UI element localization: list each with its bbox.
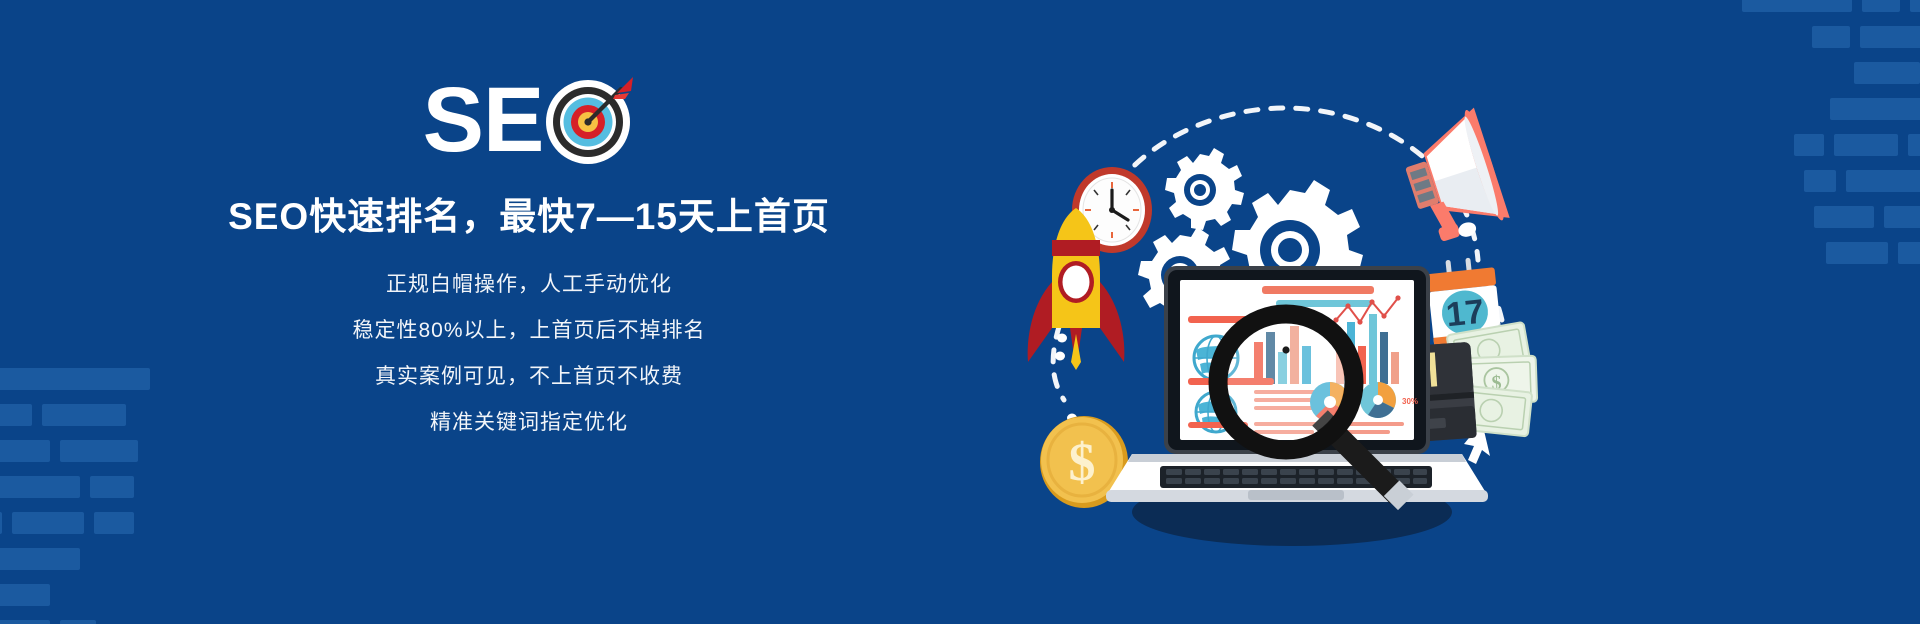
code-bar-right-segment <box>1854 62 1920 84</box>
calendar-day-label: 17 <box>1444 293 1486 335</box>
code-bar-left-segment <box>0 476 80 498</box>
feature-list: 正规白帽操作，人工手动优化 稳定性80%以上，上首页后不掉排名 真实案例可见，不… <box>214 274 844 433</box>
code-bar-right-segment <box>1846 170 1920 192</box>
code-bar-right-segment <box>1910 0 1920 12</box>
code-bar-right-segment <box>1742 0 1852 12</box>
code-bar-right-row <box>1650 62 1920 84</box>
code-bar-left-segment <box>0 368 150 390</box>
code-bar-left-row <box>0 512 240 534</box>
decorative-code-bars-right <box>1650 0 1920 278</box>
code-bar-left-segment <box>0 584 50 606</box>
feature-line: 稳定性80%以上，上首页后不掉排名 <box>214 320 844 341</box>
code-bar-right-row <box>1650 26 1920 48</box>
code-bar-right-segment <box>1898 242 1920 264</box>
feature-line: 真实案例可见，不上首页不收费 <box>214 366 844 387</box>
seo-promo-banner: SE SEO快速排名，最快7—15天上首页 正规白帽操作，人工手动优化 <box>0 0 1920 624</box>
code-bar-right-segment <box>1908 134 1920 156</box>
decorative-code-bars-left <box>0 368 240 624</box>
code-bar-left-row <box>0 440 240 462</box>
code-bar-right-row <box>1650 170 1920 192</box>
code-bar-left-segment <box>94 512 134 534</box>
code-bar-left-segment <box>0 440 50 462</box>
code-bar-right-segment <box>1826 242 1888 264</box>
feature-line: 正规白帽操作，人工手动优化 <box>214 274 844 295</box>
megaphone-icon <box>1394 108 1511 249</box>
pie-percent-label: 30% <box>1402 397 1418 406</box>
coin-dollar-label: $ <box>1069 432 1096 492</box>
code-bar-left-segment <box>12 512 84 534</box>
page-title: SEO快速排名，最快7—15天上首页 <box>214 194 844 240</box>
seo-logo-letters: SE <box>423 74 544 166</box>
code-bar-left-row <box>0 404 240 426</box>
seo-analytics-illustration: $ <box>1020 70 1540 570</box>
code-bar-left-segment <box>0 512 2 534</box>
code-bar-left-segment <box>60 620 96 624</box>
code-bar-left-row <box>0 476 240 498</box>
code-bar-right-segment <box>1834 134 1898 156</box>
code-bar-right-row <box>1650 134 1920 156</box>
code-bar-right-segment <box>1814 206 1874 228</box>
promo-text-column: SE SEO快速排名，最快7—15天上首页 正规白帽操作，人工手动优化 <box>214 72 844 433</box>
code-bar-left-row <box>0 620 240 624</box>
code-bar-left-row <box>0 548 240 570</box>
code-bar-left-segment <box>0 548 80 570</box>
code-bar-right-row <box>1650 98 1920 120</box>
target-bullseye-icon <box>545 75 635 165</box>
code-bar-left-segment <box>0 404 32 426</box>
code-bar-right-segment <box>1804 170 1836 192</box>
code-bar-left-row <box>0 584 240 606</box>
code-bar-right-segment <box>1812 26 1850 48</box>
code-bar-left-segment <box>90 476 134 498</box>
code-bar-right-row <box>1650 0 1920 12</box>
code-bar-left-segment <box>0 620 50 624</box>
code-bar-left-row <box>0 368 240 390</box>
code-bar-right-segment <box>1794 134 1824 156</box>
seo-logo: SE <box>214 72 844 168</box>
code-bar-left-segment <box>42 404 126 426</box>
code-bar-right-segment <box>1860 26 1920 48</box>
code-bar-right-row <box>1650 242 1920 264</box>
code-bar-right-row <box>1650 206 1920 228</box>
code-bar-left-segment <box>60 440 138 462</box>
code-bar-right-segment <box>1830 98 1920 120</box>
code-bar-right-segment <box>1884 206 1920 228</box>
feature-line: 精准关键词指定优化 <box>214 412 844 433</box>
code-bar-right-segment <box>1862 0 1900 12</box>
